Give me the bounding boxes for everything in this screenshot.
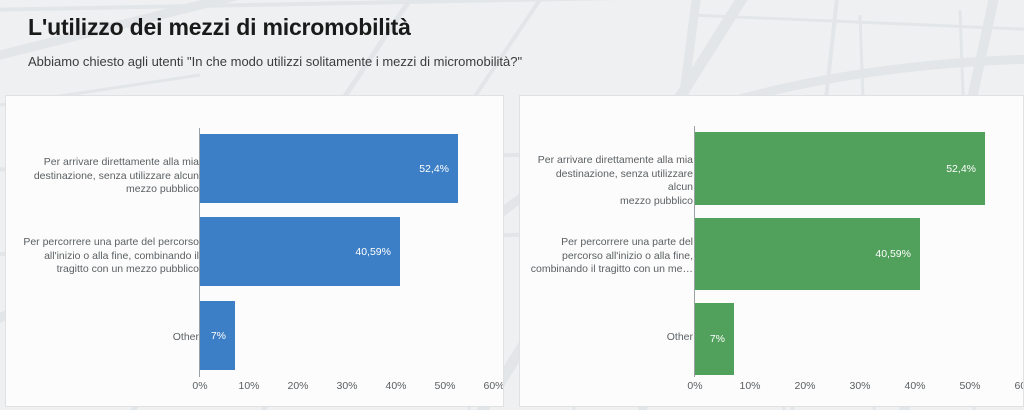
x-tick-6: 60% [1014, 380, 1024, 392]
cat-label-0: Per arrivare direttamente alla mia desti… [14, 156, 199, 197]
bar-0[interactable]: 52,4% [695, 132, 985, 205]
bar-chart-blue: Per arrivare direttamente alla mia desti… [6, 96, 503, 406]
bar-value-1: 40,59% [875, 248, 911, 260]
bar-1[interactable]: 40,59% [200, 217, 400, 286]
page-header: L'utilizzo dei mezzi di micromobilità Ab… [0, 0, 1024, 69]
x-axis-ticks-left: 0% 10% 20% 30% 40% 50% 60% [6, 380, 504, 396]
x-tick-6: 60% [483, 380, 504, 392]
x-tick-4: 40% [385, 380, 406, 392]
x-tick-2: 20% [794, 380, 815, 392]
chart-card-left[interactable]: Per arrivare direttamente alla mia desti… [5, 95, 504, 407]
x-tick-5: 50% [434, 380, 455, 392]
cat-label-2: Other [528, 331, 693, 345]
bar-0[interactable]: 52,4% [200, 134, 458, 203]
bar-value-2: 7% [211, 330, 226, 342]
x-tick-4: 40% [904, 380, 925, 392]
x-tick-1: 10% [739, 380, 760, 392]
bar-value-0: 52,4% [946, 163, 976, 175]
x-tick-3: 30% [336, 380, 357, 392]
x-tick-5: 50% [959, 380, 980, 392]
cat-label-1: Per percorrere una parte del percorso al… [528, 236, 693, 277]
y-axis-category-labels-right: Per arrivare direttamente alla mia desti… [528, 96, 693, 336]
bar-chart-green: Per arrivare direttamente alla mia desti… [520, 96, 1023, 406]
x-tick-3: 30% [849, 380, 870, 392]
chart-card-right[interactable]: Per arrivare direttamente alla mia desti… [519, 95, 1024, 407]
bar-2[interactable]: 7% [200, 301, 235, 370]
cat-label-2: Other [14, 331, 199, 345]
x-tick-2: 20% [287, 380, 308, 392]
bar-2[interactable]: 7% [695, 303, 734, 375]
x-tick-0: 0% [687, 380, 702, 392]
page-title: L'utilizzo dei mezzi di micromobilità [0, 0, 1024, 41]
y-axis-category-labels-left: Per arrivare direttamente alla mia desti… [14, 96, 199, 336]
x-tick-0: 0% [192, 380, 207, 392]
bar-value-1: 40,59% [355, 246, 391, 258]
cat-label-1: Per percorrere una parte del percorso al… [14, 236, 199, 277]
bar-value-0: 52,4% [419, 163, 449, 175]
page-subtitle: Abbiamo chiesto agli utenti "In che modo… [0, 41, 1024, 69]
x-axis-ticks-right: 0% 10% 20% 30% 40% 50% 60% [520, 380, 1024, 396]
cat-label-0: Per arrivare direttamente alla mia desti… [528, 154, 693, 208]
bar-value-2: 7% [710, 333, 725, 345]
bar-1[interactable]: 40,59% [695, 218, 920, 290]
x-tick-1: 10% [238, 380, 259, 392]
